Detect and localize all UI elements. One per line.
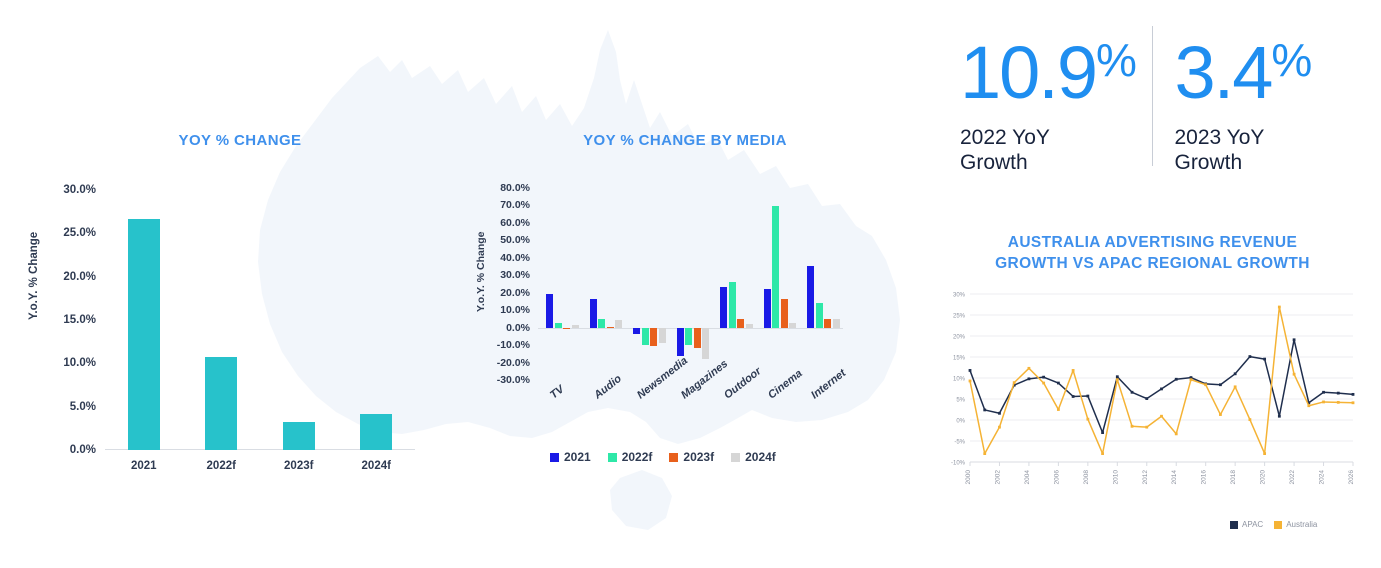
chart3-point-apac-2024[interactable] [1322, 391, 1325, 394]
chart3-point-australia-2010[interactable] [1116, 378, 1119, 381]
chart3-point-australia-2000[interactable] [969, 380, 972, 383]
chart1-xlabel-2023f: 2023f [284, 460, 313, 472]
chart3-point-australia-2015[interactable] [1190, 378, 1193, 381]
chart3-point-apac-2000[interactable] [969, 369, 972, 372]
chart2-bar-tv-2022f[interactable] [555, 323, 562, 328]
chart3-point-apac-2026[interactable] [1352, 393, 1355, 396]
chart2-bar-internet-2024f[interactable] [833, 319, 840, 328]
chart1-xlabel-2022f: 2022f [207, 460, 236, 472]
chart1-xlabel-2024f: 2024f [362, 460, 391, 472]
chart2-bar-magazines-2023f[interactable] [694, 328, 701, 348]
chart2-ytick-11: 80.0% [500, 182, 530, 194]
chart3-point-apac-2013[interactable] [1160, 388, 1163, 391]
chart1-ytick-4: 20.0% [63, 271, 96, 283]
chart3-xtick-2004: 2004 [1024, 470, 1031, 485]
chart1-xlabel-2021: 2021 [131, 460, 157, 472]
chart1-ytick-6: 30.0% [63, 184, 96, 196]
chart3-legend-item-apac[interactable]: APAC [1230, 520, 1263, 529]
chart3-point-australia-2022[interactable] [1293, 373, 1296, 376]
chart3-xtick-2006: 2006 [1053, 470, 1060, 485]
chart2-bar-cinema-2021[interactable] [764, 289, 771, 328]
chart3-xtick-2000: 2000 [965, 470, 972, 485]
chart1-bar-2021[interactable] [128, 219, 160, 450]
chart3-point-australia-2017[interactable] [1219, 413, 1222, 416]
chart3-point-apac-2004[interactable] [1028, 377, 1031, 380]
chart3-point-apac-2009[interactable] [1101, 431, 1104, 434]
chart3-point-australia-2016[interactable] [1204, 383, 1207, 386]
chart1-category-2022f: 2022f [183, 190, 261, 450]
chart3-point-apac-2019[interactable] [1248, 355, 1251, 358]
stat-1-caption: 2023 YoY Growth [1174, 125, 1352, 175]
chart-australia-vs-apac: AUSTRALIA ADVERTISING REVENUE GROWTH VS … [930, 232, 1375, 562]
chart3-point-australia-2003[interactable] [1013, 381, 1016, 384]
chart2-ytick-8: 50.0% [500, 234, 530, 246]
chart1-category-2024f: 2024f [338, 190, 416, 450]
chart3-xtick-2026: 2026 [1348, 470, 1355, 485]
chart2-bar-tv-2021[interactable] [546, 294, 553, 328]
chart2-ytick-1: -20.0% [497, 357, 530, 369]
chart3-xtick-2012: 2012 [1142, 470, 1149, 485]
chart2-legend-label-2022f: 2022f [622, 450, 653, 464]
chart3-point-australia-2013[interactable] [1160, 415, 1163, 418]
chart3-legend: APACAustralia [1230, 520, 1317, 529]
chart1-bar-2023f[interactable] [283, 422, 315, 450]
chart3-point-apac-2005[interactable] [1042, 376, 1045, 379]
chart2-category-tv [538, 188, 582, 380]
chart3-point-australia-2007[interactable] [1072, 369, 1075, 372]
stat-1-number: 3.4 [1174, 31, 1271, 114]
chart3-point-apac-2008[interactable] [1086, 395, 1089, 398]
chart2-bar-audio-2024f[interactable] [615, 320, 622, 327]
chart3-xtick-2010: 2010 [1112, 470, 1119, 485]
chart3-point-apac-2020[interactable] [1263, 358, 1266, 361]
chart2-title: YOY % CHANGE BY MEDIA [455, 132, 915, 149]
chart3-ytick-1: -5% [954, 440, 965, 446]
chart2-bar-internet-2023f[interactable] [824, 319, 831, 327]
chart2-bar-newsmedia-2023f[interactable] [650, 328, 657, 346]
chart3-xtick-2018: 2018 [1230, 470, 1237, 485]
chart2-legend-item-2021[interactable]: 2021 [550, 450, 591, 464]
stat-1-value: 3.4% [1174, 18, 1352, 115]
chart3-ytick-8: 30% [953, 293, 966, 299]
chart1-category-2023f: 2023f [260, 190, 338, 450]
chart1-bar-2024f[interactable] [360, 414, 392, 450]
chart3-point-apac-2002[interactable] [998, 412, 1001, 415]
chart3-point-australia-2014[interactable] [1175, 432, 1178, 435]
chart2-ytick-0: -30.0% [497, 374, 530, 386]
chart2-category-audio [582, 188, 626, 380]
chart3-point-australia-2005[interactable] [1042, 382, 1045, 385]
chart2-category-newsmedia [625, 188, 669, 380]
stat-0-caption-line2: Growth [960, 150, 1138, 175]
stats-panel: 10.9% 2022 YoY Growth 3.4% 2023 YoY Grow… [952, 18, 1352, 178]
chart2-ytick-7: 40.0% [500, 252, 530, 264]
dashboard-page: YOY % CHANGE Y.o.Y. % Change 0.0%5.0%10.… [0, 0, 1381, 568]
chart2-xlabel-tv: TV [548, 383, 566, 401]
chart3-point-australia-2008[interactable] [1086, 418, 1089, 421]
chart3-point-apac-2007[interactable] [1072, 395, 1075, 398]
chart2-bar-cinema-2023f[interactable] [781, 299, 788, 328]
chart3-point-apac-2017[interactable] [1219, 383, 1222, 386]
chart3-legend-swatch-apac [1230, 521, 1238, 529]
chart2-bar-outdoor-2024f[interactable] [746, 324, 753, 328]
chart3-line-australia[interactable] [970, 307, 1353, 454]
chart3-title: AUSTRALIA ADVERTISING REVENUE GROWTH VS … [930, 232, 1375, 274]
chart1-title: YOY % CHANGE [40, 132, 440, 149]
chart2-legend-swatch-2022f [608, 453, 617, 462]
chart3-point-apac-2021[interactable] [1278, 415, 1281, 418]
chart3-point-apac-2006[interactable] [1057, 382, 1060, 385]
chart2-legend-item-2023f[interactable]: 2023f [669, 450, 714, 464]
chart3-plot-area: -10%-5%0%5%10%15%20%25%30%20002002200420… [940, 288, 1365, 508]
chart3-point-australia-2026[interactable] [1352, 401, 1355, 404]
stat-0-caption: 2022 YoY Growth [960, 125, 1138, 175]
chart2-bar-tv-2024f[interactable] [572, 325, 579, 327]
chart3-point-apac-2025[interactable] [1337, 392, 1340, 395]
chart3-point-australia-2001[interactable] [983, 452, 986, 455]
chart2-legend-label-2023f: 2023f [683, 450, 714, 464]
chart2-ytick-6: 30.0% [500, 269, 530, 281]
chart2-category-magazines [669, 188, 713, 380]
chart3-point-australia-2011[interactable] [1131, 425, 1134, 428]
chart1-category-2021: 2021 [105, 190, 183, 450]
chart2-bar-internet-2022f[interactable] [816, 303, 823, 327]
chart2-legend-item-2022f[interactable]: 2022f [608, 450, 653, 464]
chart3-point-australia-2002[interactable] [998, 426, 1001, 429]
chart3-point-australia-2004[interactable] [1028, 367, 1031, 370]
chart2-legend-swatch-2023f [669, 453, 678, 462]
chart3-point-australia-2018[interactable] [1234, 385, 1237, 388]
chart2-legend-label-2021: 2021 [564, 450, 591, 464]
chart2-bar-newsmedia-2024f[interactable] [659, 328, 666, 343]
chart3-line-apac[interactable] [970, 340, 1353, 433]
chart2-bar-outdoor-2021[interactable] [720, 287, 727, 327]
chart3-point-apac-2010[interactable] [1116, 375, 1119, 378]
chart3-xtick-2020: 2020 [1260, 470, 1267, 485]
chart2-ytick-5: 20.0% [500, 287, 530, 299]
chart3-xtick-2022: 2022 [1289, 470, 1296, 485]
chart3-point-australia-2020[interactable] [1263, 452, 1266, 455]
chart2-y-axis-label: Y.o.Y. % Change [475, 231, 487, 312]
chart3-svg: -10%-5%0%5%10%15%20%25%30%20002002200420… [940, 288, 1365, 508]
chart3-ytick-0: -10% [951, 461, 966, 467]
chart3-point-australia-2006[interactable] [1057, 408, 1060, 411]
chart2-plot-area: -30.0%-20.0%-10.0%0.0%10.0%20.0%30.0%40.… [538, 188, 843, 380]
chart2-legend-swatch-2021 [550, 453, 559, 462]
chart2-bar-magazines-2024f[interactable] [702, 328, 709, 359]
stat-1-caption-line2: Growth [1174, 150, 1352, 175]
stat-1-caption-line1: 2023 YoY [1174, 125, 1352, 150]
chart2-category-cinema [756, 188, 800, 380]
chart2-ytick-10: 70.0% [500, 199, 530, 211]
chart2-ytick-2: -10.0% [497, 339, 530, 351]
chart3-ytick-5: 15% [953, 356, 966, 362]
chart3-xtick-2016: 2016 [1201, 470, 1208, 485]
chart2-category-internet [799, 188, 843, 380]
chart2-bar-audio-2021[interactable] [590, 299, 597, 328]
chart3-point-australia-2024[interactable] [1322, 401, 1325, 404]
chart2-legend: 20212022f2023f2024f [550, 450, 776, 464]
chart3-point-australia-2025[interactable] [1337, 401, 1340, 404]
chart2-bar-newsmedia-2022f[interactable] [642, 328, 649, 345]
chart3-point-australia-2012[interactable] [1145, 426, 1148, 429]
chart1-ytick-2: 10.0% [63, 357, 96, 369]
chart3-xtick-2002: 2002 [994, 470, 1001, 485]
chart3-ytick-7: 25% [953, 314, 966, 320]
chart1-ytick-1: 5.0% [70, 401, 96, 413]
chart1-ytick-5: 25.0% [63, 227, 96, 239]
chart2-ytick-9: 60.0% [500, 217, 530, 229]
chart2-bar-magazines-2022f[interactable] [685, 328, 692, 346]
stat-2022-yoy-growth: 10.9% 2022 YoY Growth [952, 18, 1138, 178]
chart1-ytick-3: 15.0% [63, 314, 96, 326]
chart3-point-apac-2001[interactable] [983, 409, 986, 412]
chart2-bar-outdoor-2022f[interactable] [729, 282, 736, 327]
chart1-y-axis-label: Y.o.Y. % Change [28, 232, 40, 320]
chart3-point-apac-2018[interactable] [1234, 372, 1237, 375]
chart3-title-line1: AUSTRALIA ADVERTISING REVENUE [930, 232, 1375, 253]
chart2-bar-internet-2021[interactable] [807, 266, 814, 328]
chart2-legend-label-2024f: 2024f [745, 450, 776, 464]
chart3-point-apac-2022[interactable] [1293, 338, 1296, 341]
chart3-xtick-2014: 2014 [1171, 470, 1178, 485]
chart3-point-australia-2021[interactable] [1278, 306, 1281, 309]
chart3-point-apac-2011[interactable] [1131, 391, 1134, 394]
chart3-title-line2: GROWTH VS APAC REGIONAL GROWTH [930, 253, 1375, 274]
stat-2023-yoy-growth: 3.4% 2023 YoY Growth [1166, 18, 1352, 178]
chart3-ytick-4: 10% [953, 377, 966, 383]
chart2-ytick-3: 0.0% [506, 322, 530, 334]
stats-divider [1152, 26, 1153, 166]
chart1-plot-area: 0.0%5.0%10.0%15.0%20.0%25.0%30.0%2021202… [105, 190, 415, 450]
chart2-category-outdoor [712, 188, 756, 380]
chart2-bar-newsmedia-2021[interactable] [633, 328, 640, 334]
chart3-legend-label-apac: APAC [1242, 520, 1263, 529]
chart3-point-australia-2009[interactable] [1101, 452, 1104, 455]
chart3-point-australia-2023[interactable] [1307, 404, 1310, 407]
chart3-point-australia-2019[interactable] [1248, 418, 1251, 421]
chart3-point-apac-2012[interactable] [1145, 397, 1148, 400]
chart3-xtick-2008: 2008 [1083, 470, 1090, 485]
chart-yoy-change-by-media: YOY % CHANGE BY MEDIA Y.o.Y. % Change -3… [455, 132, 915, 482]
chart1-ytick-0: 0.0% [70, 444, 96, 456]
chart-yoy-change: YOY % CHANGE Y.o.Y. % Change 0.0%5.0%10.… [10, 132, 440, 492]
chart3-legend-swatch-australia [1274, 521, 1282, 529]
chart2-legend-item-2024f[interactable]: 2024f [731, 450, 776, 464]
chart2-bar-audio-2023f[interactable] [607, 327, 614, 328]
chart3-xtick-2024: 2024 [1319, 470, 1326, 485]
chart3-ytick-3: 5% [956, 398, 965, 404]
chart3-point-apac-2014[interactable] [1175, 378, 1178, 381]
chart3-ytick-2: 0% [956, 419, 965, 425]
chart2-legend-swatch-2024f [731, 453, 740, 462]
chart3-legend-item-australia[interactable]: Australia [1274, 520, 1317, 529]
chart2-bar-outdoor-2023f[interactable] [737, 319, 744, 328]
chart3-legend-label-australia: Australia [1286, 520, 1317, 529]
stat-0-caption-line1: 2022 YoY [960, 125, 1138, 150]
stat-0-percent: % [1096, 34, 1136, 86]
chart1-bar-2022f[interactable] [205, 357, 237, 450]
chart2-bar-magazines-2021[interactable] [677, 328, 684, 357]
stat-0-number: 10.9 [960, 31, 1096, 114]
chart2-ytick-4: 10.0% [500, 304, 530, 316]
chart2-bar-cinema-2024f[interactable] [789, 323, 796, 327]
chart3-ytick-6: 20% [953, 335, 966, 341]
chart2-bar-cinema-2022f[interactable] [772, 206, 779, 328]
chart2-bar-audio-2022f[interactable] [598, 319, 605, 328]
stat-0-value: 10.9% [960, 18, 1138, 115]
chart2-bar-tv-2023f[interactable] [563, 328, 570, 329]
stat-1-percent: % [1271, 34, 1311, 86]
